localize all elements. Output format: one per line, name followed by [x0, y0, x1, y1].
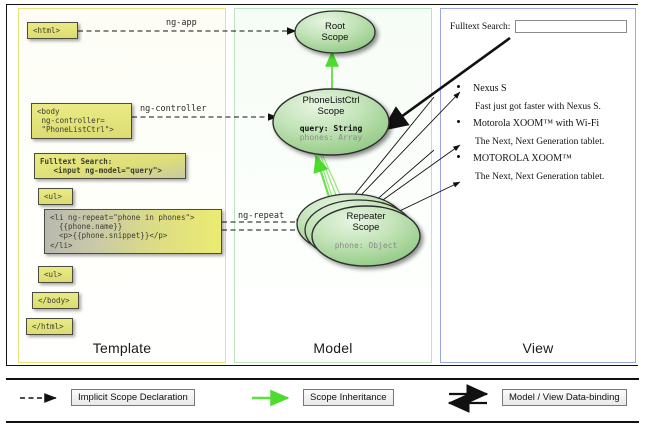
code-block-body-open: <body ng-controller= "PhoneListCtrl"> — [31, 103, 132, 139]
fulltext-search-label: Fulltext Search: — [450, 22, 510, 32]
list-item: Nexus S Fast just got faster with Nexus … — [455, 82, 633, 114]
ellipse-repeater-scope-stack — [297, 194, 420, 266]
list-item: Motorola XOOM™ with Wi-Fi The Next, Next… — [455, 117, 633, 149]
code-block-html-open: <html> — [27, 22, 78, 39]
angularjs-concepts-diagram: Template Model View — [0, 0, 645, 425]
bullet-icon — [457, 85, 460, 88]
code-block-html-close: </html> — [26, 318, 73, 335]
legend-item-implicit-scope-declaration: Implicit Scope Declaration — [20, 389, 195, 406]
legend-top-rule — [6, 378, 639, 380]
code-block-fulltext-search: Fulltext Search: <input ng-model="query"… — [34, 153, 186, 179]
legend-item-scope-inheritance: Scope Inheritance — [252, 389, 394, 406]
code-block-ul-close: <ul> — [38, 266, 73, 283]
phone-snippet: Fast just got faster with Nexus S. — [475, 101, 633, 114]
phone-list: Nexus S Fast just got faster with Nexus … — [455, 82, 633, 187]
code-block-body-close: </body> — [32, 292, 79, 309]
view-search-row: Fulltext Search: — [450, 20, 627, 33]
legend-label-scope-inheritance: Scope Inheritance — [303, 389, 394, 406]
ellipse-root-scope — [295, 11, 375, 53]
phone-name: Motorola XOOM™ with Wi-Fi — [473, 117, 633, 131]
legend-bottom-rule — [6, 421, 639, 423]
list-item: MOTOROLA XOOM™ The Next, Next Generation… — [455, 152, 633, 184]
phone-name: MOTOROLA XOOM™ — [473, 152, 633, 166]
edge-label-ng-controller: ng-controller — [140, 104, 207, 114]
phone-snippet: The Next, Next Generation tablet. — [475, 136, 633, 149]
code-block-li-repeat: <li ng-repeat="phone in phones"> {{phone… — [44, 209, 222, 254]
phone-name: Nexus S — [473, 82, 633, 96]
edge-label-ng-repeat: ng-repeat — [238, 211, 284, 221]
phone-snippet: The Next, Next Generation tablet. — [475, 171, 633, 184]
fulltext-search-input[interactable] — [515, 20, 627, 33]
bullet-icon — [457, 120, 460, 123]
code-block-ul-open: <ul> — [38, 188, 73, 205]
legend-label-implicit-scope-declaration: Implicit Scope Declaration — [71, 389, 195, 406]
ellipse-phonelistctrl-scope — [273, 89, 389, 155]
bullet-icon — [457, 155, 460, 158]
edge-label-ng-app: ng-app — [166, 18, 197, 28]
legend-item-model-view-data-binding: Model / View Data-binding — [449, 389, 627, 406]
legend-label-model-view-data-binding: Model / View Data-binding — [502, 389, 627, 406]
